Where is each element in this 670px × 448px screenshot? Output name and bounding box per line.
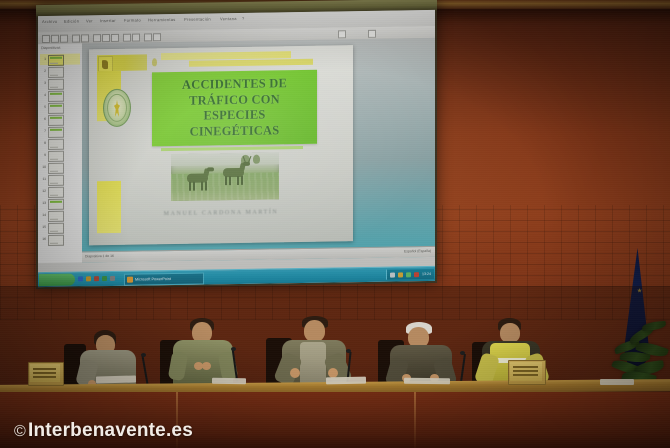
slide-thumbnail-3[interactable]: 3	[40, 77, 80, 89]
quicklaunch-mail-icon[interactable]	[110, 276, 115, 281]
insert-table-icon[interactable]	[144, 33, 152, 41]
cut-icon[interactable]	[93, 34, 101, 42]
institution-logo-banner	[97, 54, 147, 71]
photo-tree	[253, 155, 260, 164]
quicklaunch-ie-icon[interactable]	[78, 276, 83, 281]
status-language: Español (España)	[404, 249, 431, 253]
copy-icon[interactable]	[102, 33, 110, 41]
taskbar-button-label: Microsoft PowerPoint	[135, 277, 171, 282]
slide-thumb-image[interactable]	[48, 79, 64, 90]
conference-photo: Archivo Edición Ver Insertar Formato Her…	[0, 0, 670, 448]
quicklaunch-folder-icon[interactable]	[86, 276, 91, 281]
slide-number: 6	[40, 117, 46, 121]
slide-thumb-image[interactable]	[48, 211, 64, 222]
document-papers	[96, 375, 136, 383]
slide-thumbnail-10[interactable]: 10	[40, 161, 80, 173]
slide-canvas-area[interactable]: ACCIDENTES DE TRÁFICO CON ESPECIES CINEG…	[82, 38, 435, 263]
tray-network-icon[interactable]	[390, 272, 395, 277]
projection-screen-frame: Archivo Edición Ver Insertar Formato Her…	[36, 0, 437, 289]
print-icon[interactable]	[72, 34, 80, 42]
microphone-head-3	[346, 349, 351, 353]
slide-thumbnail-8[interactable]: 8	[40, 137, 80, 149]
slide-thumb-image[interactable]	[48, 175, 64, 186]
help-search-icon[interactable]	[368, 29, 376, 37]
site-watermark: ©Interbenavente.es	[14, 420, 193, 442]
slide-thumb-image[interactable]	[48, 91, 64, 102]
slide-thumbnail-13[interactable]: 13	[40, 197, 80, 209]
slide-thumbnail-7[interactable]: 7	[40, 125, 80, 137]
document-papers	[212, 378, 246, 385]
slide-number: 14	[40, 213, 46, 217]
menu-item-formato[interactable]: Formato	[124, 18, 141, 23]
quicklaunch-media-icon[interactable]	[94, 276, 99, 281]
laptop-left[interactable]	[28, 362, 62, 384]
slide-number: 2	[40, 69, 46, 73]
system-tray[interactable]: 13:24	[386, 269, 434, 280]
slide-title-line-2: TRÁFICO CON	[182, 92, 287, 109]
slide-number: 9	[40, 153, 46, 157]
powerpoint-statusbar: Diapositiva 1 de 16 Español (España)	[82, 246, 435, 263]
paste-icon[interactable]	[111, 33, 119, 41]
preview-icon[interactable]	[81, 34, 89, 42]
document-papers	[326, 377, 366, 385]
status-slide-counter: Diapositiva 1 de 16	[85, 254, 114, 258]
menu-item-help[interactable]: ?	[242, 16, 245, 21]
start-button[interactable]	[39, 274, 75, 287]
slide-thumb-image[interactable]	[48, 55, 64, 66]
slide-title-text: ACCIDENTES DE TRÁFICO CON ESPECIES CINEG…	[182, 76, 287, 140]
slide-thumbnail-5[interactable]: 5	[40, 101, 80, 113]
save-icon[interactable]	[60, 34, 68, 42]
slide-thumb-image[interactable]	[48, 115, 64, 126]
watermark-text: Interbenavente.es	[28, 420, 193, 441]
menu-item-presentacion[interactable]: Presentación	[184, 16, 211, 21]
slide-number: 11	[40, 177, 46, 181]
slide-number: 13	[40, 201, 46, 205]
slide-title-line-4: CINEGÉTICAS	[182, 123, 287, 140]
slide-thumbnail-12[interactable]: 12	[40, 185, 80, 197]
slide-number: 3	[40, 81, 46, 85]
microphone-head-2	[231, 347, 236, 351]
slide-number: 7	[40, 129, 46, 133]
slide-thumbnail-6[interactable]: 6	[40, 113, 80, 125]
slide-thumb-image[interactable]	[48, 199, 64, 210]
menu-item-herramientas[interactable]: Herramientas	[148, 17, 176, 22]
slide-thumb-image[interactable]	[48, 127, 64, 138]
slide-author-line: MANUEL CARDONA MARTÍN	[89, 208, 353, 218]
undo-icon[interactable]	[123, 33, 131, 41]
slide-thumbnail-9[interactable]: 9	[40, 149, 80, 161]
menu-item-insertar[interactable]: Insertar	[100, 18, 116, 23]
slide-number: 15	[40, 225, 46, 229]
slide-thumbnail-16[interactable]: 16	[40, 233, 80, 245]
powerpoint-icon	[127, 277, 133, 283]
slide-title-underline	[161, 146, 303, 151]
table-panel-seam	[414, 392, 416, 448]
slide-thumb-image[interactable]	[48, 163, 64, 174]
menu-item-archivo[interactable]: Archivo	[42, 19, 57, 24]
redo-icon[interactable]	[132, 33, 140, 41]
slide-thumb-image[interactable]	[48, 139, 64, 150]
insert-chart-icon[interactable]	[153, 33, 161, 41]
slide-number: 4	[40, 93, 46, 97]
document-papers	[404, 378, 450, 385]
slide-number: 1	[40, 57, 46, 61]
menu-item-ver[interactable]: Ver	[86, 18, 93, 23]
taskbar-button-powerpoint[interactable]: Microsoft PowerPoint	[124, 273, 204, 286]
tray-volume-icon[interactable]	[398, 272, 403, 277]
slide-thumb-image[interactable]	[48, 223, 64, 234]
open-file-icon[interactable]	[51, 34, 59, 42]
slide-thumbnail-2[interactable]: 2	[40, 65, 80, 77]
slide-thumb-image[interactable]	[48, 103, 64, 114]
tray-clock[interactable]: 13:24	[422, 272, 431, 276]
slide-thumbnail-4[interactable]: 4	[40, 89, 80, 101]
slide-thumb-image[interactable]	[48, 235, 64, 246]
menu-item-ventana[interactable]: Ventana	[220, 16, 237, 21]
current-slide[interactable]: ACCIDENTES DE TRÁFICO CON ESPECIES CINEG…	[89, 45, 353, 245]
menu-item-edicion[interactable]: Edición	[64, 18, 79, 23]
coat-of-arms-icon	[103, 89, 131, 127]
tray-update-icon[interactable]	[414, 272, 419, 277]
slide-number: 16	[40, 237, 46, 241]
slide-title-line-3: ESPECIES	[182, 107, 287, 124]
slide-title-line-1: ACCIDENTES DE	[182, 76, 287, 93]
microphone-head-1	[141, 353, 146, 357]
slide-sorter-panel[interactable]: Diapositivas 1 2 3 4 5 6 7 8 9 10 11 12 …	[38, 43, 83, 263]
institution-crest-icon	[98, 56, 113, 72]
slide-number: 8	[40, 141, 46, 145]
secondary-logo-icon	[151, 56, 159, 68]
microphone-head-4	[460, 351, 465, 355]
slide-thumb-image[interactable]	[48, 67, 64, 78]
header-band-lower	[189, 59, 313, 67]
deer-photograph	[171, 152, 279, 201]
slide-thumbnail-15[interactable]: 15	[40, 221, 80, 233]
slide-number: 10	[40, 165, 46, 169]
zoom-control-icon[interactable]	[338, 30, 346, 38]
slide-thumbnail-11[interactable]: 11	[40, 173, 80, 185]
slide-number: 12	[40, 189, 46, 193]
tray-antivirus-icon[interactable]	[406, 272, 411, 277]
slide-number: 5	[40, 105, 46, 109]
copyright-symbol: ©	[14, 423, 26, 440]
quicklaunch-desktop-icon[interactable]	[102, 276, 107, 281]
slide-sorter-title: Diapositivas	[41, 46, 60, 50]
logo-side-bar-bottom	[97, 181, 121, 233]
document-papers	[600, 379, 634, 385]
slide-thumb-image[interactable]	[48, 187, 64, 198]
slide-thumbnail-1[interactable]: 1	[40, 53, 80, 65]
slide-thumbnail-14[interactable]: 14	[40, 209, 80, 221]
deer-doe	[187, 167, 215, 191]
slide-thumb-image[interactable]	[48, 151, 64, 162]
laptop-right[interactable]	[508, 360, 544, 383]
new-file-icon[interactable]	[42, 34, 50, 42]
projected-desktop[interactable]: Archivo Edición Ver Insertar Formato Her…	[38, 10, 435, 287]
deer-buck	[223, 162, 253, 191]
slide-title-box: ACCIDENTES DE TRÁFICO CON ESPECIES CINEG…	[152, 70, 317, 147]
